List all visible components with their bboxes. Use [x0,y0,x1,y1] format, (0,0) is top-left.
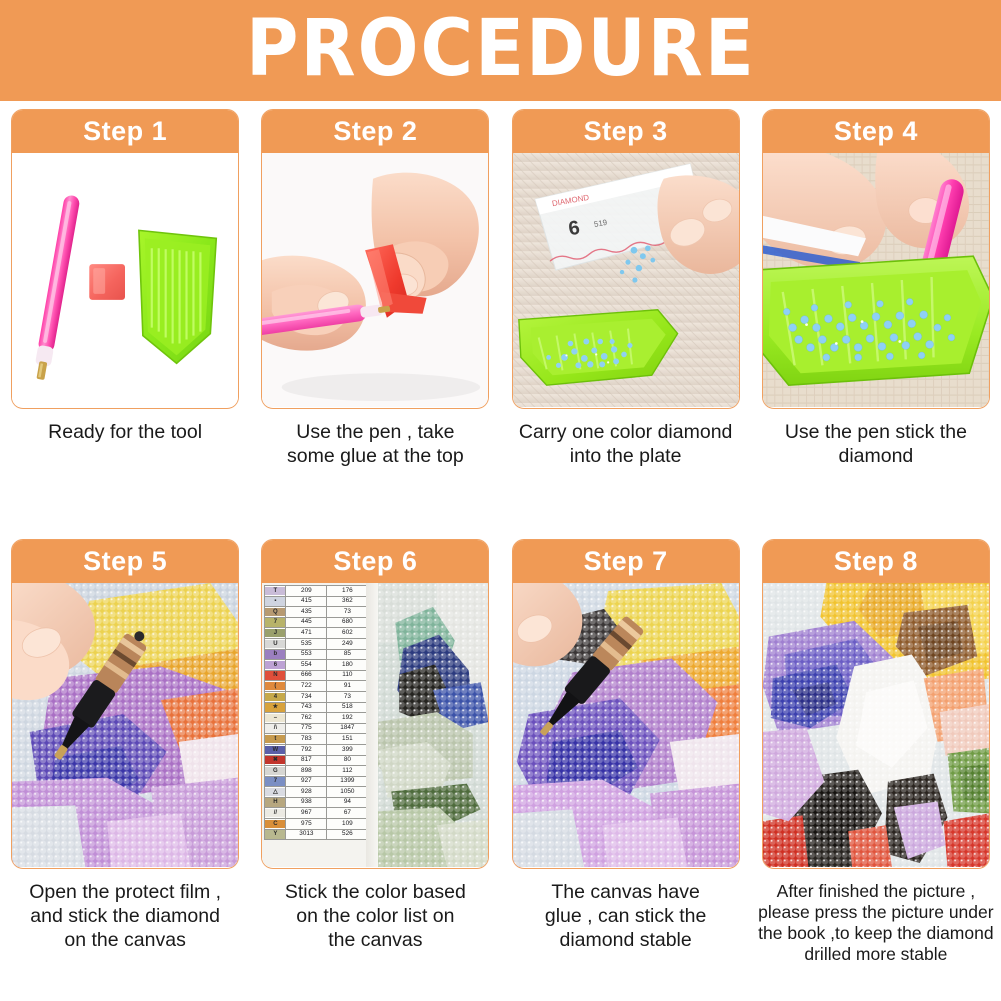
color-count-cell: 362 [327,596,368,607]
color-swatch: U [265,640,285,648]
step-header-4: Step 4 [762,109,990,153]
step-caption-2: Use the pen , take some glue at the top [256,421,494,469]
color-code-cell: 783 [286,734,327,745]
step-cell-7: Step 7 [501,531,751,971]
step-image-7 [513,583,739,867]
color-count-cell: 192 [327,713,368,724]
step-cell-2: Step 2 [250,101,500,531]
color-swatch-cell: N [265,670,286,681]
color-list-row: C975109 [265,819,368,830]
color-count-cell: 399 [327,744,368,755]
step-card-7: Step 7 [512,539,740,869]
finished-painting-illustration [763,583,989,867]
tools-photo [12,153,238,407]
color-code-cell: 554 [286,660,327,671]
color-count-cell: 151 [327,734,368,745]
color-swatch: G [265,767,285,775]
hand-pen-canvas-photo [12,583,238,867]
color-list-row: b55385 [265,649,368,660]
color-swatch: H [265,798,285,806]
step-card-2: Step 2 [261,109,489,409]
panel-divider [366,583,378,867]
color-swatch-cell: J [265,628,286,639]
color-list-row: t783151 [265,734,368,745]
color-code-cell: 553 [286,649,327,660]
color-code-cell: 967 [286,808,327,819]
color-list-panel: T209176▪415362Q435737445680J471602U53524… [262,583,366,867]
color-count-cell: 1399 [327,776,368,787]
color-list-row: W792399 [265,744,368,755]
step-image-4 [763,153,989,407]
color-list-row: 473473 [265,691,368,702]
step-label-4: Step 4 [834,116,918,147]
step-image-5 [12,583,238,867]
color-count-cell: 80 [327,755,368,766]
step-image-3: DIAMOND 6 519 [513,153,739,407]
hand-pen-canvas-illustration [12,583,238,867]
color-code-cell: 415 [286,596,327,607]
color-swatch: // [265,809,285,817]
color-code-cell: 928 [286,787,327,798]
color-list-row: //96767 [265,808,368,819]
color-swatch-cell: C [265,819,286,830]
color-list-row: (72291 [265,681,368,692]
step-cell-3: Step 3 [501,101,751,531]
step-caption-6: Stick the color based on the color list … [256,881,494,952]
step-header-7: Step 7 [512,539,740,583]
color-list-row: H93894 [265,797,368,808]
color-swatch: ✖ [265,756,285,764]
color-list-row: ✖81780 [265,755,368,766]
color-code-cell: 775 [286,723,327,734]
color-count-cell: 518 [327,702,368,713]
step-label-8: Step 8 [834,546,918,577]
color-code-cell: 535 [286,638,327,649]
step-caption-4: Use the pen stick the diamond [757,421,995,469]
color-swatch-cell: 6 [265,660,286,671]
step-label-7: Step 7 [584,546,668,577]
color-count-cell: 73 [327,691,368,702]
pen-picking-illustration [763,153,989,407]
step-image-6: T209176▪415362Q435737445680J471602U53524… [262,583,488,867]
page-header-banner: PROCEDURE [0,0,1001,101]
color-swatch: △ [265,788,285,796]
color-count-cell: 180 [327,660,368,671]
color-count-cell: 85 [327,649,368,660]
color-count-cell: 94 [327,797,368,808]
color-count-cell: 91 [327,681,368,692]
color-count-cell: 109 [327,819,368,830]
color-list-row: G898112 [265,766,368,777]
color-swatch: C [265,820,285,828]
color-swatch-cell: 4 [265,691,286,702]
color-list-and-canvas: T209176▪415362Q435737445680J471602U53524… [262,583,488,867]
color-list-row: ★743518 [265,702,368,713]
color-list-row: T209176 [265,586,368,597]
color-swatch: T [265,587,285,595]
color-list-row: J471602 [265,628,368,639]
step-header-2: Step 2 [261,109,489,153]
color-list-row: Y3013526 [265,829,368,840]
step-caption-5: Open the protect film , and stick the di… [6,881,244,952]
step-header-1: Step 1 [11,109,239,153]
color-swatch-cell: Q [265,607,286,618]
glue-dipping-photo [262,153,488,407]
step-image-8 [763,583,989,867]
procedure-infographic: PROCEDURE Step 1 [0,0,1001,1001]
color-code-cell: 3013 [286,829,327,840]
color-swatch: Q [265,608,285,616]
color-count-cell: 112 [327,766,368,777]
step-cell-1: Step 1 [0,101,250,531]
step-label-1: Step 1 [83,116,167,147]
color-list-row: U535249 [265,638,368,649]
color-swatch-cell: Y [265,829,286,840]
color-code-cell: 762 [286,713,327,724]
step-card-5: Step 5 [11,539,239,869]
page-title: PROCEDURE [246,10,756,92]
color-swatch-cell: ✖ [265,755,286,766]
step-header-6: Step 6 [261,539,489,583]
color-code-cell: 471 [286,628,327,639]
color-swatch-cell: b [265,649,286,660]
color-code-cell: 938 [286,797,327,808]
color-swatch: 6 [265,661,285,669]
step-cell-4: Step 4 [751,101,1001,531]
step-header-5: Step 5 [11,539,239,583]
step-cell-6: Step 6 T209176▪415362Q435737445680J47160… [250,531,500,971]
finished-painting-photo [763,583,989,867]
color-count-cell: 67 [327,808,368,819]
color-swatch: J [265,629,285,637]
color-swatch: ★ [265,703,285,711]
color-count-cell: 73 [327,607,368,618]
color-code-cell: 435 [286,607,327,618]
step-card-8: Step 8 [762,539,990,869]
color-swatch: W [265,746,285,754]
color-code-cell: 792 [286,744,327,755]
color-list-row: /\7751847 [265,723,368,734]
color-swatch: t [265,735,285,743]
color-list-row: 6554180 [265,660,368,671]
color-count-cell: 1050 [327,787,368,798]
step-cell-5: Step 5 [0,531,250,971]
color-swatch-cell: // [265,808,286,819]
color-code-cell: 975 [286,819,327,830]
color-list-row: ▪415362 [265,596,368,607]
color-swatch-cell: H [265,797,286,808]
color-swatch-cell: T [265,586,286,597]
color-count-cell: 1847 [327,723,368,734]
color-code-cell: 898 [286,766,327,777]
color-swatch-cell: – [265,713,286,724]
color-swatch: ( [265,682,285,690]
color-list-row: N666110 [265,670,368,681]
step-image-1 [12,153,238,407]
color-swatch: N [265,671,285,679]
color-code-cell: 445 [286,617,327,628]
color-list-row: Q43573 [265,607,368,618]
color-swatch-cell: △ [265,787,286,798]
pouring-diamonds-photo: DIAMOND 6 519 [513,153,739,407]
glue-dipping-illustration [262,153,488,407]
color-list-row: 7445680 [265,617,368,628]
color-count-cell: 680 [327,617,368,628]
color-list-row: △9281050 [265,787,368,798]
step-card-1: Step 1 [11,109,239,409]
color-swatch-cell: ★ [265,702,286,713]
step-label-2: Step 2 [333,116,417,147]
step-caption-3: Carry one color diamond into the plate [507,421,745,469]
color-code-cell: 743 [286,702,327,713]
color-swatch-cell: t [265,734,286,745]
color-swatch: 7 [265,618,285,626]
color-swatch-cell: 7 [265,776,286,787]
step-image-2 [262,153,488,407]
color-swatch-cell: /\ [265,723,286,734]
color-code-cell: 722 [286,681,327,692]
color-swatch-cell: 7 [265,617,286,628]
color-count-cell: 110 [327,670,368,681]
step-label-3: Step 3 [584,116,668,147]
canvas-photo-6 [378,583,488,867]
color-swatch: ▪ [265,597,285,605]
step-card-3: Step 3 [512,109,740,409]
color-list-row: 79271399 [265,776,368,787]
step-caption-8: After finished the picture , please pres… [753,881,999,965]
color-swatch-cell: U [265,638,286,649]
step-label-6: Step 6 [333,546,417,577]
step-header-3: Step 3 [512,109,740,153]
color-swatch: 4 [265,693,285,701]
color-swatch: Y [265,830,285,838]
color-swatch: – [265,714,285,722]
color-count-cell: 249 [327,638,368,649]
color-list-row: –762192 [265,713,368,724]
step-label-5: Step 5 [83,546,167,577]
step-caption-1: Ready for the tool [6,421,244,445]
color-code-cell: 666 [286,670,327,681]
color-swatch-cell: G [265,766,286,777]
color-count-cell: 176 [327,586,368,597]
color-code-cell: 817 [286,755,327,766]
pen-placing-diamond-photo [513,583,739,867]
color-count-cell: 526 [327,829,368,840]
color-swatch-cell: ▪ [265,596,286,607]
color-code-cell: 209 [286,586,327,597]
color-swatch: 7 [265,777,285,785]
color-list-table: T209176▪415362Q435737445680J471602U53524… [264,585,368,840]
color-swatch: b [265,650,285,658]
color-swatch-cell: W [265,744,286,755]
tools-illustration [12,153,238,407]
canvas-illustration-6 [378,583,488,867]
color-swatch-cell: ( [265,681,286,692]
color-count-cell: 602 [327,628,368,639]
step-cell-8: Step 8 [751,531,1001,971]
color-code-cell: 927 [286,776,327,787]
pouring-diamonds-illustration: DIAMOND 6 519 [513,153,739,407]
pen-placing-illustration [513,583,739,867]
step-card-4: Step 4 [762,109,990,409]
step-caption-7: The canvas have glue , can stick the dia… [507,881,745,952]
step-card-6: Step 6 T209176▪415362Q435737445680J47160… [261,539,489,869]
color-swatch: /\ [265,724,285,732]
pen-picking-diamond-photo [763,153,989,407]
step-header-8: Step 8 [762,539,990,583]
color-code-cell: 734 [286,691,327,702]
steps-grid: Step 1 [0,101,1001,1001]
